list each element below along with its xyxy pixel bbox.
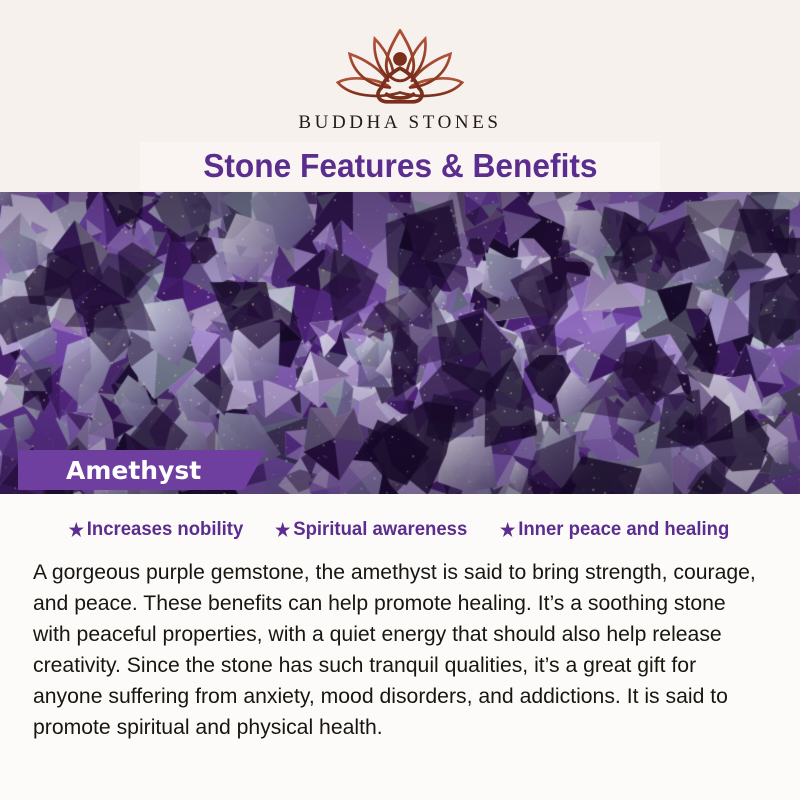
lotus-meditation-icon <box>316 22 484 106</box>
stone-name-label: Amethyst <box>18 456 201 485</box>
star-icon: ★ <box>69 521 84 539</box>
amethyst-photo-canvas <box>0 192 800 494</box>
benefit-label: Spiritual awareness <box>293 518 467 541</box>
benefit-item-1: ★ Spiritual awareness <box>275 518 467 541</box>
benefit-label: Inner peace and healing <box>519 518 730 541</box>
page-title: Stone Features & Benefits <box>203 147 597 185</box>
brand-logo: BUDDHA STONES <box>0 22 800 134</box>
title-plaque: Stone Features & Benefits <box>140 142 660 190</box>
star-icon: ★ <box>500 521 515 539</box>
benefits-list: ★ Increases nobility ★ Spiritual awarene… <box>0 494 800 541</box>
benefit-label: Increases nobility <box>87 518 243 541</box>
stone-description: A gorgeous purple gemstone, the amethyst… <box>33 557 759 743</box>
stone-info-card: BUDDHA STONES Stone Features & Benefits … <box>0 0 800 800</box>
benefit-item-2: ★ Inner peace and healing <box>500 518 729 541</box>
stone-name-banner: Amethyst <box>18 450 266 490</box>
star-icon: ★ <box>275 521 290 539</box>
benefit-item-0: ★ Increases nobility <box>69 518 244 541</box>
stone-details-panel: ★ Increases nobility ★ Spiritual awarene… <box>0 494 800 800</box>
brand-name: BUDDHA STONES <box>0 112 800 134</box>
amethyst-photo <box>0 192 800 494</box>
